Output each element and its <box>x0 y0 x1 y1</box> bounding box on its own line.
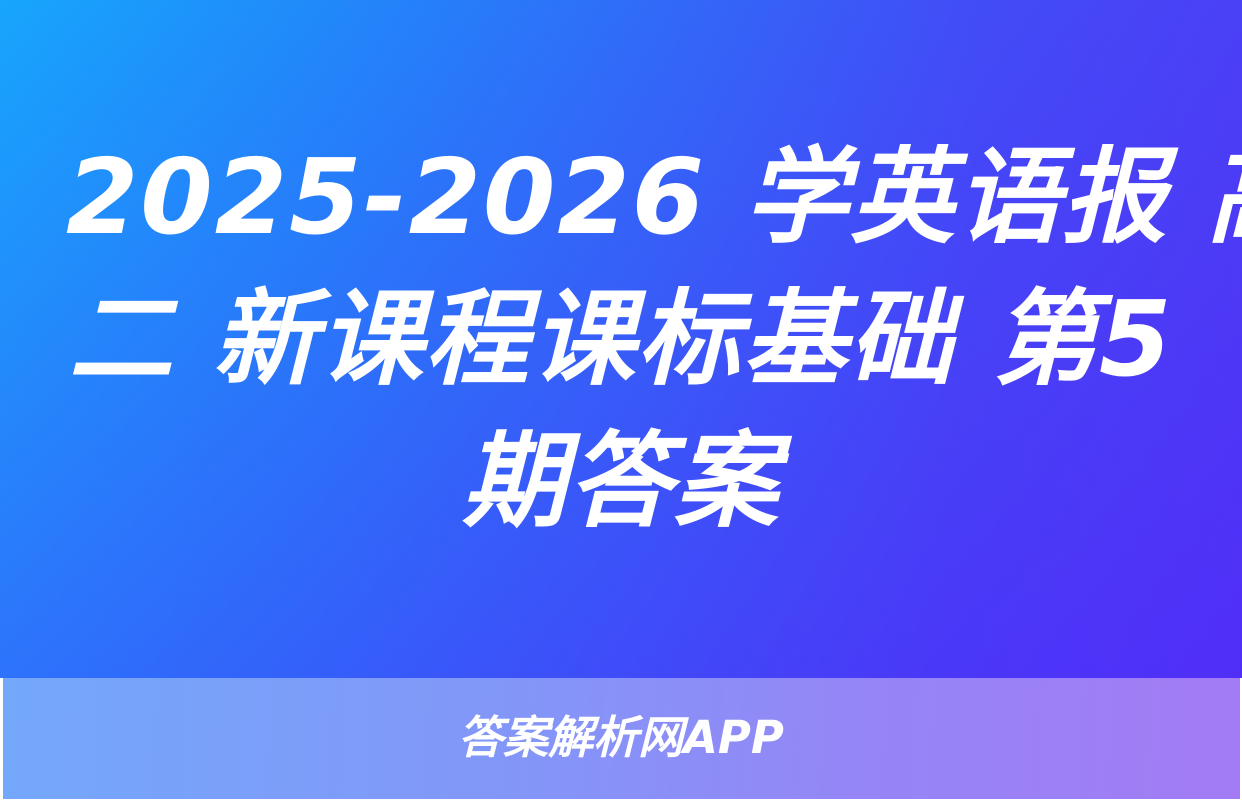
footer-watermark-band: 答案解析网APP <box>0 678 1242 800</box>
page-title: 2025-2026 学英语报 高 二 新课程课标基础 第5 期答案 <box>66 126 1176 552</box>
page-edge-left <box>0 678 3 800</box>
hero-gradient-background: 2025-2026 学英语报 高 二 新课程课标基础 第5 期答案 <box>0 0 1242 678</box>
poster-canvas: 2025-2026 学英语报 高 二 新课程课标基础 第5 期答案 答案解析网A… <box>0 0 1242 800</box>
brand-watermark-label: 答案解析网APP <box>458 715 784 764</box>
page-title-line-1: 2025-2026 学英语报 高 <box>66 126 1176 268</box>
page-title-line-3: 期答案 <box>66 410 1176 552</box>
page-title-line-2: 二 新课程课标基础 第5 <box>66 268 1176 410</box>
hero-content: 2025-2026 学英语报 高 二 新课程课标基础 第5 期答案 <box>0 0 1242 678</box>
